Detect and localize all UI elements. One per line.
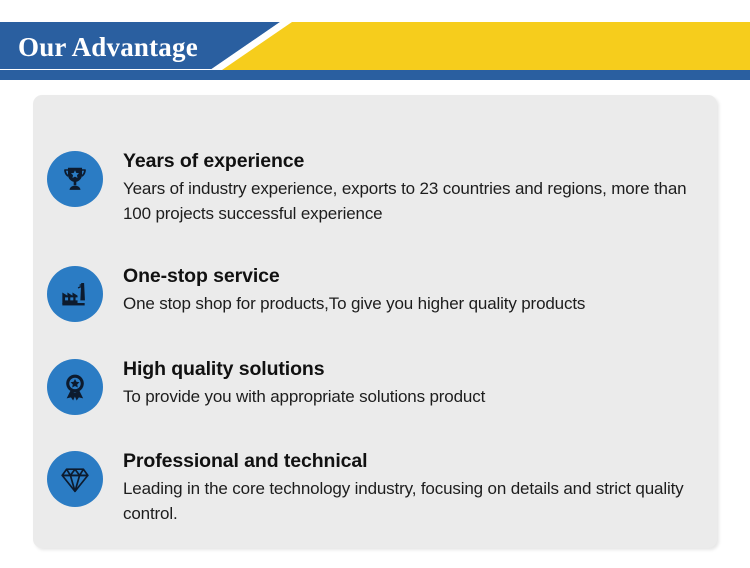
feature-icon-badge bbox=[47, 151, 103, 207]
page-header-banner: Our Advantage bbox=[0, 0, 750, 88]
banner-yellow-shape bbox=[215, 22, 750, 70]
feature-icon-badge bbox=[47, 266, 103, 322]
feature-description: Years of industry experience, exports to… bbox=[123, 176, 703, 226]
feature-item: High quality solutions To provide you wi… bbox=[33, 357, 717, 415]
page-title: Our Advantage bbox=[18, 30, 198, 64]
feature-text: High quality solutions To provide you wi… bbox=[123, 357, 717, 409]
feature-list: Years of experience Years of industry ex… bbox=[33, 117, 717, 548]
feature-title: One-stop service bbox=[123, 264, 703, 288]
feature-item: Professional and technical Leading in th… bbox=[33, 449, 717, 526]
feature-description: One stop shop for products,To give you h… bbox=[123, 291, 703, 316]
feature-text: Years of experience Years of industry ex… bbox=[123, 149, 717, 226]
feature-title: Years of experience bbox=[123, 149, 703, 173]
award-ribbon-icon bbox=[60, 372, 90, 402]
factory-icon bbox=[60, 279, 90, 309]
diamond-icon bbox=[59, 463, 91, 495]
advantage-card: Years of experience Years of industry ex… bbox=[33, 95, 717, 548]
feature-description: To provide you with appropriate solution… bbox=[123, 384, 703, 409]
feature-description: Leading in the core technology industry,… bbox=[123, 476, 703, 526]
feature-title: High quality solutions bbox=[123, 357, 703, 381]
feature-icon-badge bbox=[47, 359, 103, 415]
banner-bottom-bar bbox=[0, 70, 750, 80]
feature-text: One-stop service One stop shop for produ… bbox=[123, 264, 717, 316]
feature-title: Professional and technical bbox=[123, 449, 703, 473]
feature-text: Professional and technical Leading in th… bbox=[123, 449, 717, 526]
feature-icon-badge bbox=[47, 451, 103, 507]
trophy-icon bbox=[60, 164, 90, 194]
feature-item: Years of experience Years of industry ex… bbox=[33, 149, 717, 226]
feature-item: One-stop service One stop shop for produ… bbox=[33, 264, 717, 322]
